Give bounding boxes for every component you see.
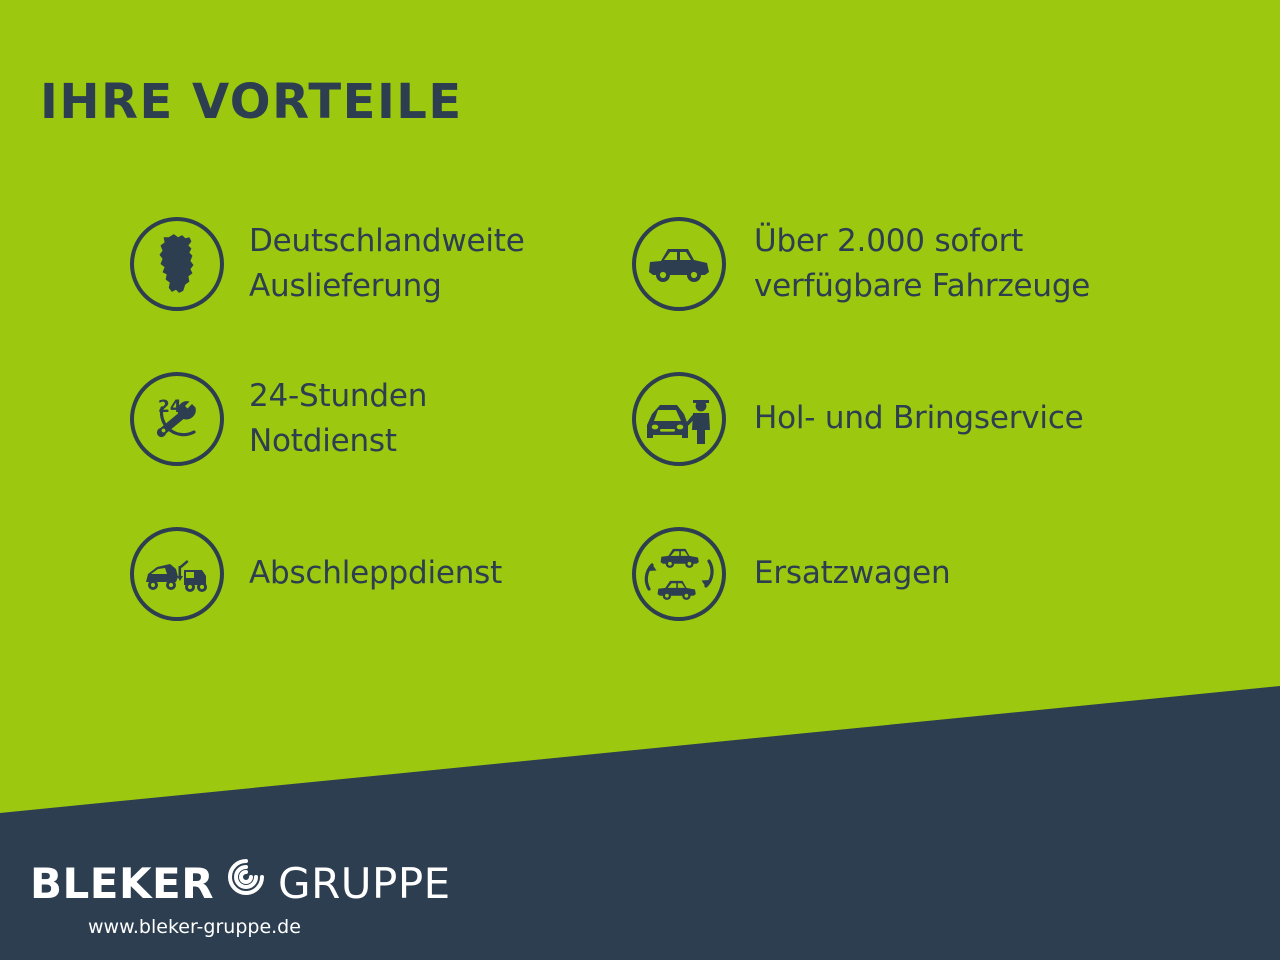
benefits-right-column: Über 2.000 sofort verfügbare Fahrzeuge: [632, 186, 1192, 651]
benefit-item-24-stunden-notdienst: 24 24-Stunden Notdienst: [130, 341, 630, 496]
benefit-label: Ersatzwagen: [754, 551, 950, 596]
page-title: IHRE VORTEILE: [40, 74, 463, 130]
germany-map-icon: [130, 217, 224, 311]
tow-truck-icon: [130, 527, 224, 621]
logo-primary-text: BLEKER: [30, 863, 214, 905]
car-with-driver-icon: [632, 372, 726, 466]
logo-wordmark-row: BLEKER GRUPPE: [30, 858, 450, 910]
benefit-label: Über 2.000 sofort verfügbare Fahrzeuge: [754, 219, 1090, 309]
24-hour-wrench-icon: 24: [130, 372, 224, 466]
slide-root: IHRE VORTEILE Deutschlandweite Ausliefer…: [0, 0, 1280, 960]
brand-logo[interactable]: BLEKER GRUPPE www.bleker-gruppe.de: [30, 858, 450, 938]
benefit-item-deutschlandweite-auslieferung: Deutschlandweite Auslieferung: [130, 186, 630, 341]
benefit-label: Abschleppdienst: [249, 551, 502, 596]
benefit-item-hol-und-bringservice: Hol- und Bringservice: [632, 341, 1192, 496]
website-url[interactable]: www.bleker-gruppe.de: [88, 916, 450, 938]
benefit-item-abschleppdienst: Abschleppdienst: [130, 496, 630, 651]
two-cars-exchange-icon: [632, 527, 726, 621]
benefit-item-ersatzwagen: Ersatzwagen: [632, 496, 1192, 651]
benefits-left-column: Deutschlandweite Auslieferung 24 24-Stun…: [130, 186, 630, 651]
benefit-item-verfuegbare-fahrzeuge: Über 2.000 sofort verfügbare Fahrzeuge: [632, 186, 1192, 341]
benefit-label: 24-Stunden Notdienst: [249, 374, 427, 464]
benefit-label: Hol- und Bringservice: [754, 396, 1084, 441]
spiral-logo-icon: [216, 847, 276, 911]
car-side-icon: [632, 217, 726, 311]
logo-secondary-text: GRUPPE: [278, 863, 451, 905]
benefit-label: Deutschlandweite Auslieferung: [249, 219, 525, 309]
